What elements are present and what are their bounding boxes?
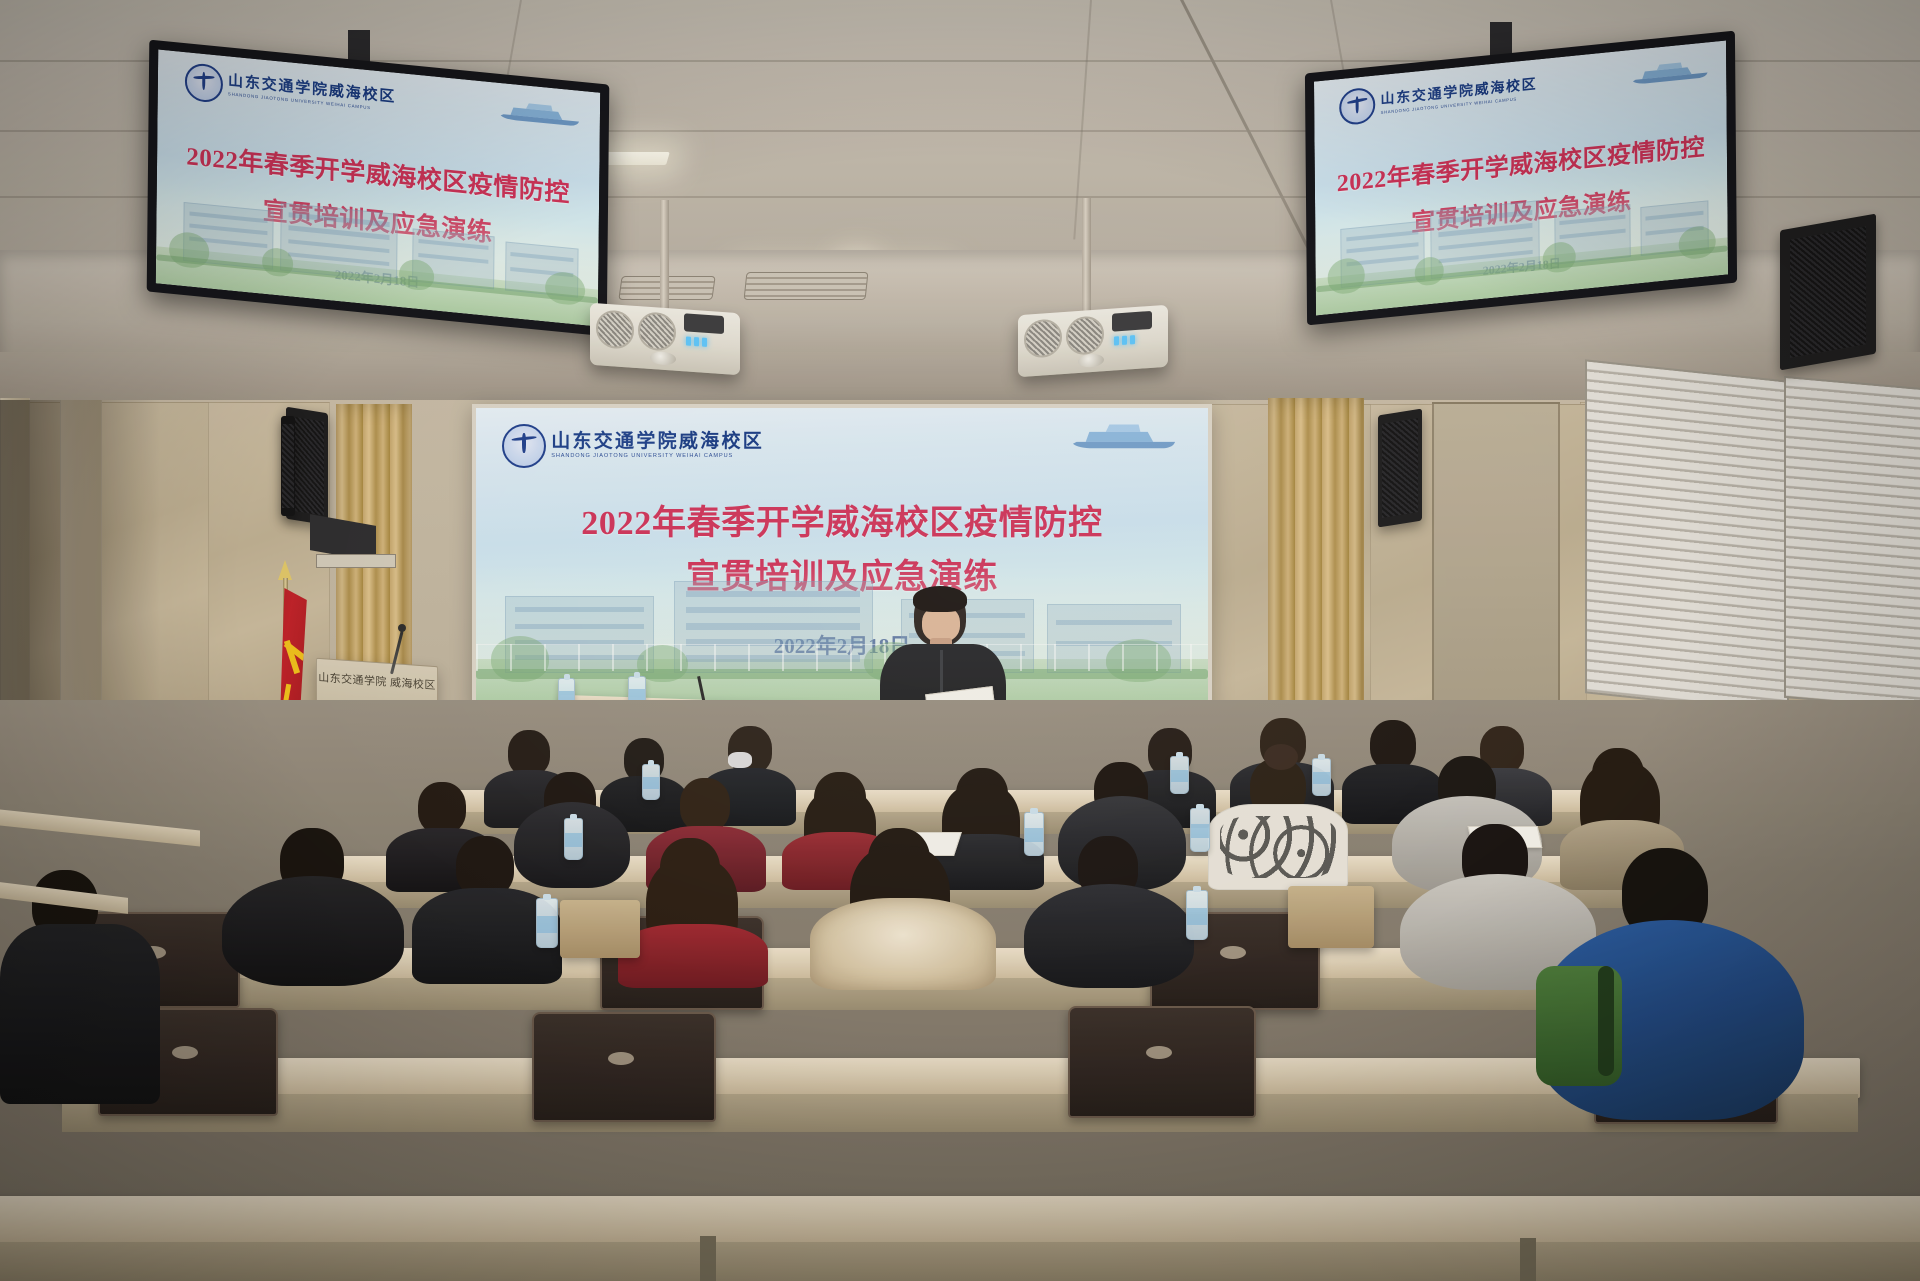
flag-finial-icon	[278, 560, 292, 580]
desk-row-5-front	[0, 1242, 1920, 1281]
university-seal-icon	[184, 62, 222, 104]
university-seal-icon	[502, 424, 546, 468]
slide-logo-cn-main: 山东交通学院	[551, 431, 679, 452]
curtain-right[interactable]	[1268, 398, 1364, 728]
boat-icon	[1069, 420, 1179, 451]
wall-speaker	[281, 416, 295, 516]
desk-leg	[700, 1236, 716, 1281]
university-seal-icon	[1339, 87, 1375, 127]
attendee	[1024, 836, 1194, 984]
projector-led-indicator	[1122, 336, 1127, 345]
projector-vent-icon	[1066, 315, 1104, 356]
projector-vent-icon	[596, 309, 634, 350]
lecture-hall-photo: 山东交通学院威海校区 SHANDONG JIAOTONG UNIVERSITY …	[0, 0, 1920, 1281]
slide-logo: 山东交通学院威海校区 SHANDONG JIAOTONG UNIVERSITY …	[502, 423, 764, 468]
slide-background-photo	[476, 564, 1208, 708]
backpack-strap	[1598, 966, 1614, 1076]
projector-led-indicator	[694, 337, 699, 346]
projector-control-panel[interactable]	[1112, 311, 1152, 332]
projector-pole-left	[660, 200, 669, 312]
presenter-hair	[913, 586, 967, 612]
projector-lens-icon	[1078, 353, 1104, 368]
projector-vent-icon	[1024, 318, 1062, 359]
projector-led-indicator	[1114, 336, 1119, 345]
projector-led-indicator	[1130, 335, 1135, 344]
attendee	[1536, 848, 1804, 1116]
ceiling-projector-right	[1018, 305, 1168, 377]
attendee	[1208, 758, 1348, 888]
window-blinds[interactable]	[1784, 376, 1920, 710]
slide-title-line1: 2022年春季开学威海校区疫情防控	[476, 495, 1208, 544]
projector-vent-icon	[638, 311, 676, 352]
wall-speaker	[1378, 409, 1422, 528]
chair[interactable]	[1068, 1006, 1252, 1128]
desk-row-5	[0, 1196, 1920, 1246]
slide-logo: 山东交通学院威海校区 SHANDONG JIAOTONG UNIVERSITY …	[184, 64, 396, 120]
fur-collar	[810, 898, 996, 990]
ceiling-tv-left[interactable]: 山东交通学院威海校区 SHANDONG JIAOTONG UNIVERSITY …	[147, 40, 610, 337]
boat-icon	[498, 97, 582, 129]
fence-railing	[476, 644, 1208, 671]
ceiling-tv-right[interactable]: 山东交通学院威海校区 SHANDONG JIAOTONG UNIVERSITY …	[1305, 31, 1737, 326]
boat-icon	[1630, 56, 1710, 87]
desk-leg	[1520, 1238, 1536, 1281]
handbag	[560, 900, 640, 958]
hvac-vent	[744, 272, 869, 300]
slide-logo: 山东交通学院威海校区 SHANDONG JIAOTONG UNIVERSITY …	[1339, 71, 1538, 126]
handbag	[1288, 886, 1374, 948]
projection-screen[interactable]: 山东交通学院威海校区 SHANDONG JIAOTONG UNIVERSITY …	[476, 408, 1208, 708]
lectern-microphone-head-icon	[398, 624, 406, 632]
chair[interactable]	[532, 1012, 712, 1132]
projector-control-panel[interactable]	[684, 313, 724, 334]
slide-logo-en: SHANDONG JIAOTONG UNIVERSITY WEIHAI CAMP…	[551, 452, 764, 461]
ceiling-projector-left	[590, 303, 740, 375]
projector-pole-right	[1082, 198, 1091, 314]
speaker-bracket	[316, 554, 396, 568]
lectern-label: 山东交通学院 威海校区	[317, 669, 437, 693]
projection-screen-frame: 山东交通学院威海校区 SHANDONG JIAOTONG UNIVERSITY …	[472, 404, 1212, 712]
wall-speaker	[1780, 214, 1876, 371]
attendee	[222, 828, 404, 980]
tv-screen-left: 山东交通学院威海校区 SHANDONG JIAOTONG UNIVERSITY …	[156, 49, 600, 326]
attendee	[810, 828, 996, 984]
water-bottle[interactable]	[564, 818, 583, 860]
projector-led-indicator	[702, 338, 707, 347]
water-bottle[interactable]	[1186, 890, 1208, 940]
projector-led-indicator	[686, 336, 691, 345]
tv-screen-right: 山东交通学院威海校区 SHANDONG JIAOTONG UNIVERSITY …	[1314, 41, 1728, 316]
slide-logo-cn-campus: 威海校区	[679, 431, 764, 452]
projector-lens-icon	[650, 351, 676, 366]
window-blinds[interactable]	[1585, 359, 1789, 714]
water-bottle[interactable]	[536, 898, 558, 948]
